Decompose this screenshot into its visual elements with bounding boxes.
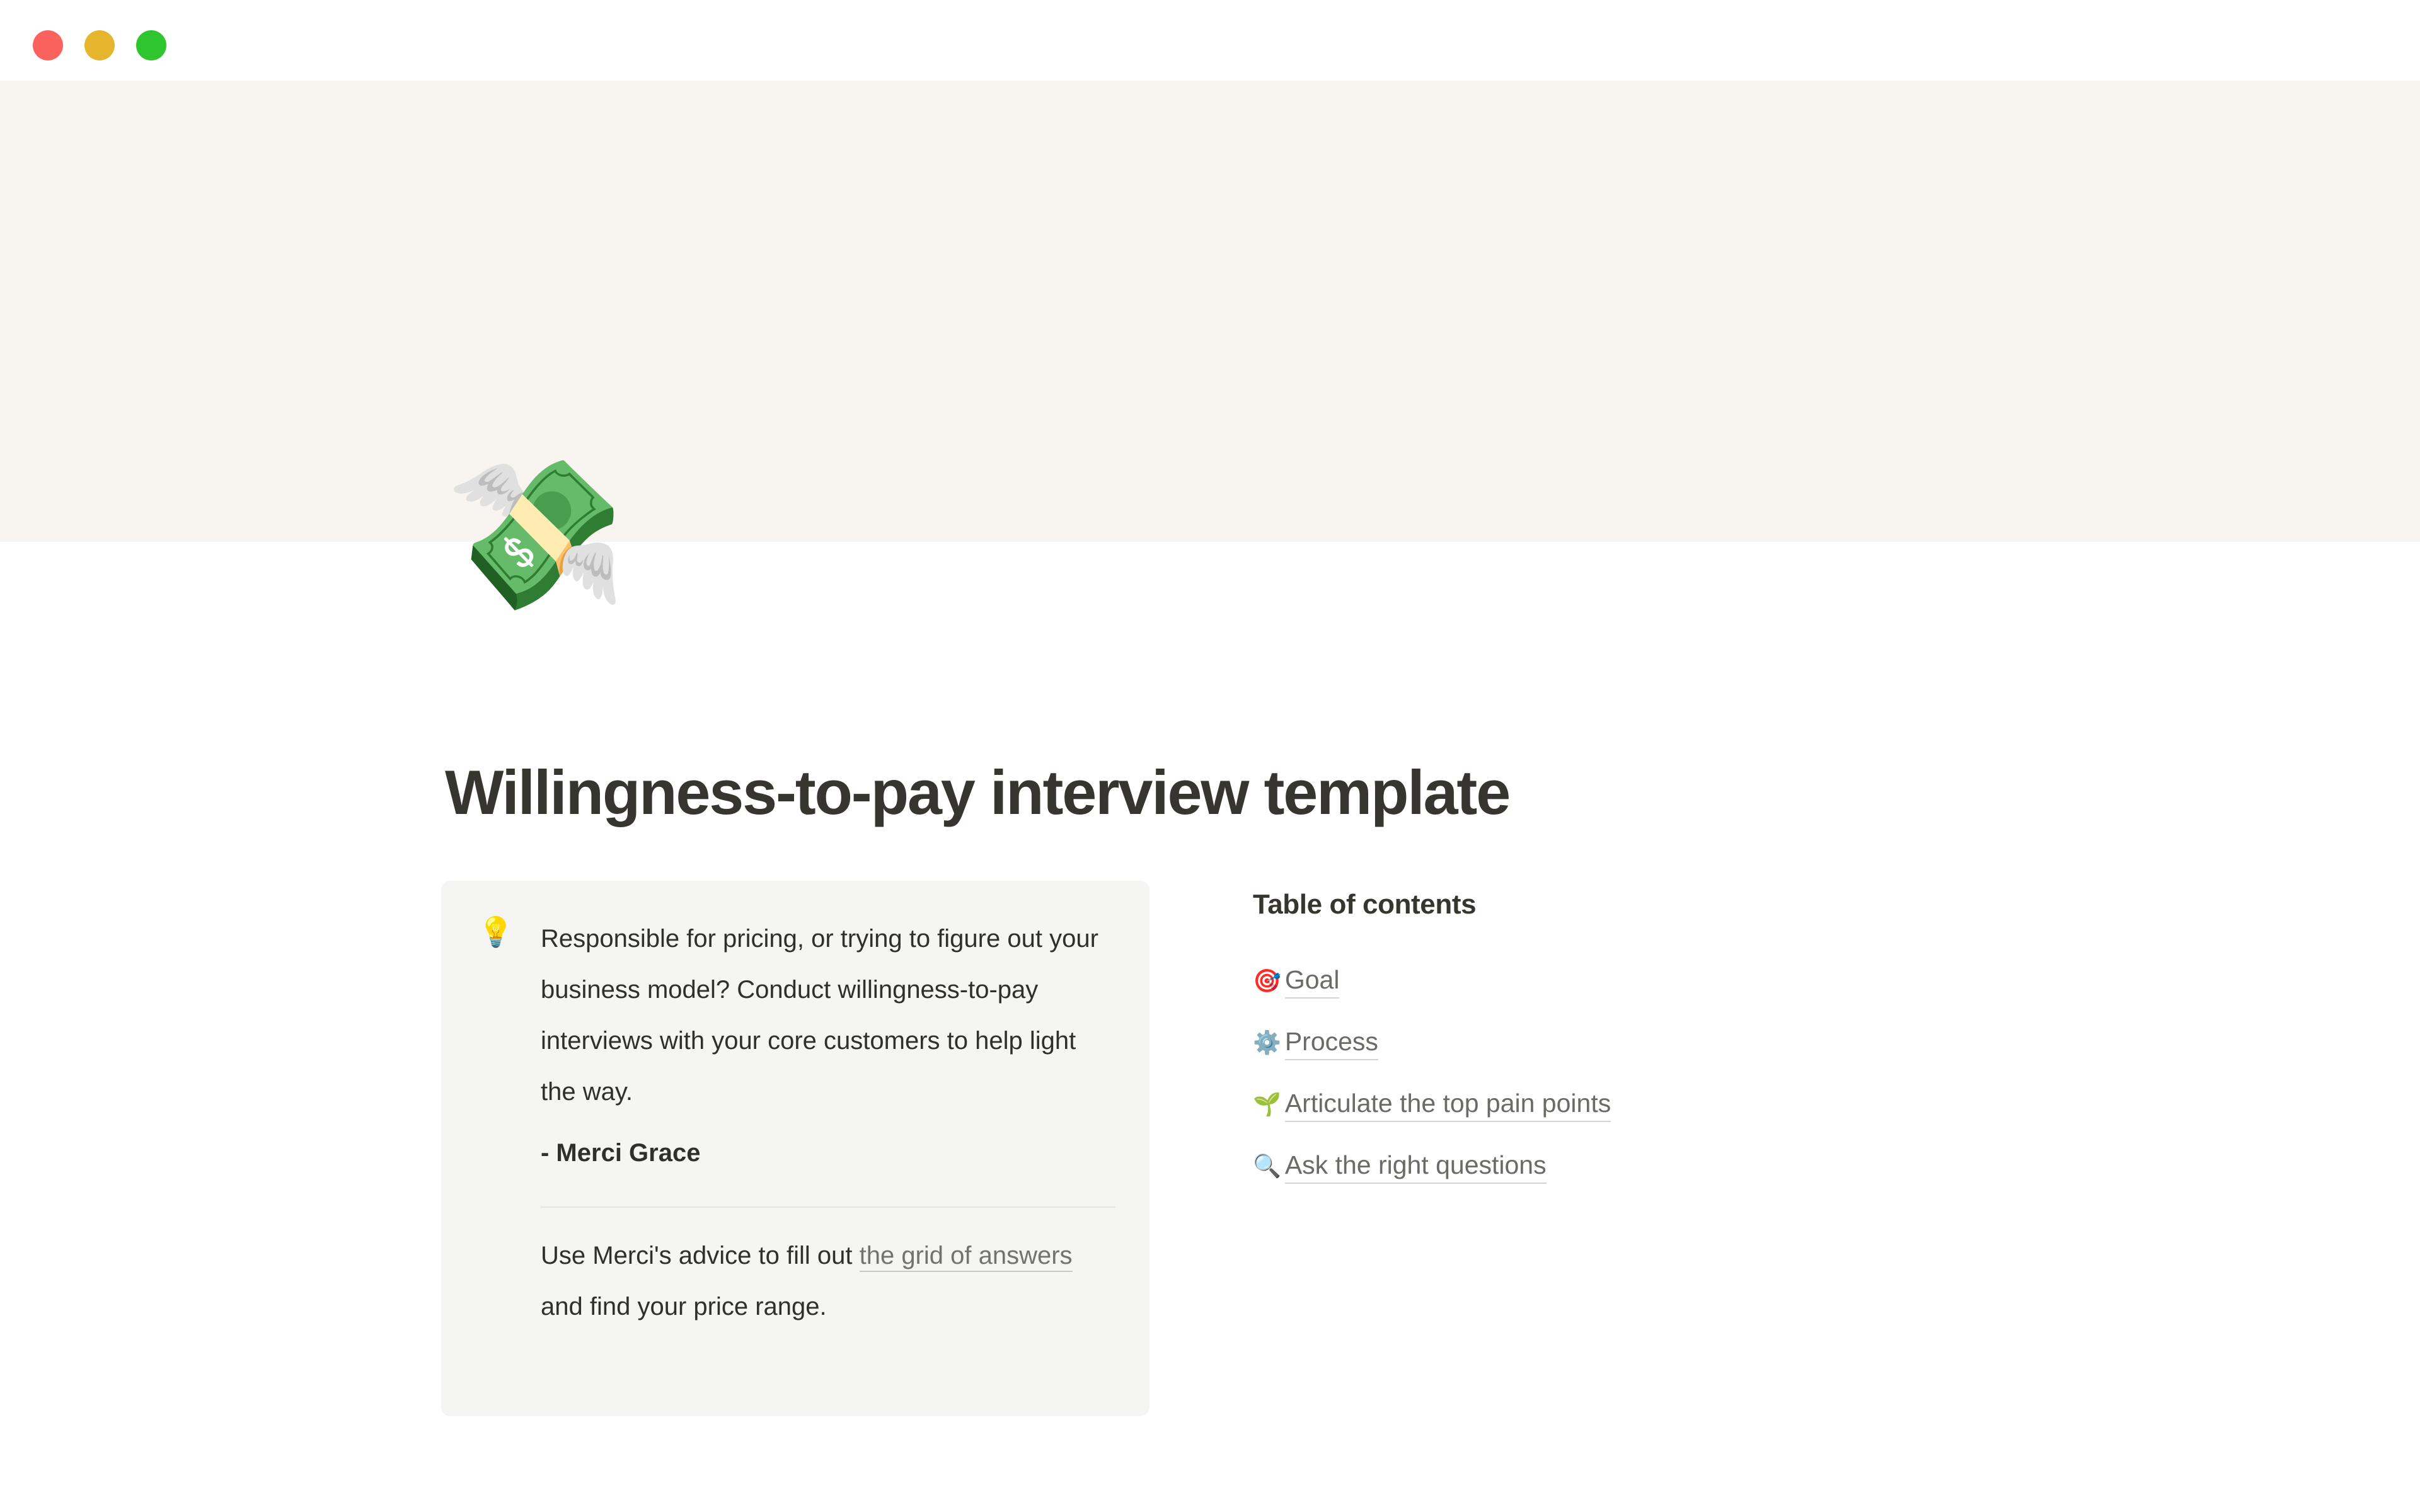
money-with-wings-icon[interactable]: 💸: [445, 450, 616, 621]
callout-top-row: 💡 Responsible for pricing, or trying to …: [478, 913, 1115, 1332]
toc-heading: Table of contents: [1253, 888, 2072, 922]
minimize-window-button[interactable]: [84, 30, 115, 60]
callout-attribution: - Merci Grace: [541, 1128, 1115, 1179]
toc-link-pain-points[interactable]: Articulate the top pain points: [1285, 1089, 1611, 1122]
toc-item-right-questions[interactable]: 🔍Ask the right questions: [1253, 1152, 2072, 1178]
callout-block[interactable]: 💡 Responsible for pricing, or trying to …: [441, 881, 1149, 1416]
toc-item-pain-points[interactable]: 🌱Articulate the top pain points: [1253, 1091, 2072, 1116]
window-titlebar: [0, 0, 2420, 81]
table-of-contents: Table of contents 🎯Goal ⚙️Process 🌱Artic…: [1253, 888, 2072, 1178]
callout-divider: [541, 1206, 1115, 1208]
traffic-light-controls: [33, 30, 166, 60]
callout-footer-text-before: Use Merci's advice to fill out: [541, 1242, 860, 1269]
page-content: 💸 Willingness-to-pay interview template …: [0, 81, 2420, 1512]
toc-item-process[interactable]: ⚙️Process: [1253, 1029, 2072, 1055]
toc-link-goal[interactable]: Goal: [1285, 965, 1340, 999]
callout-text: Responsible for pricing, or trying to fi…: [541, 913, 1115, 1118]
toc-link-right-questions[interactable]: Ask the right questions: [1285, 1150, 1547, 1184]
magnifying-glass-icon: 🔍: [1253, 1153, 1281, 1179]
toc-link-process[interactable]: Process: [1285, 1027, 1378, 1060]
light-bulb-icon: 💡: [478, 913, 513, 950]
maximize-window-button[interactable]: [136, 30, 166, 60]
callout-footer: Use Merci's advice to fill out the grid …: [541, 1230, 1115, 1332]
seedling-icon: 🌱: [1253, 1091, 1281, 1117]
page-title[interactable]: Willingness-to-pay interview template: [445, 759, 2273, 827]
grid-of-answers-link[interactable]: the grid of answers: [860, 1242, 1073, 1272]
gear-icon: ⚙️: [1253, 1029, 1281, 1055]
close-window-button[interactable]: [33, 30, 63, 60]
direct-hit-icon: 🎯: [1253, 968, 1281, 994]
callout-body: Responsible for pricing, or trying to fi…: [541, 913, 1115, 1332]
callout-footer-text-after: and find your price range.: [541, 1293, 827, 1320]
toc-item-goal[interactable]: 🎯Goal: [1253, 967, 2072, 993]
